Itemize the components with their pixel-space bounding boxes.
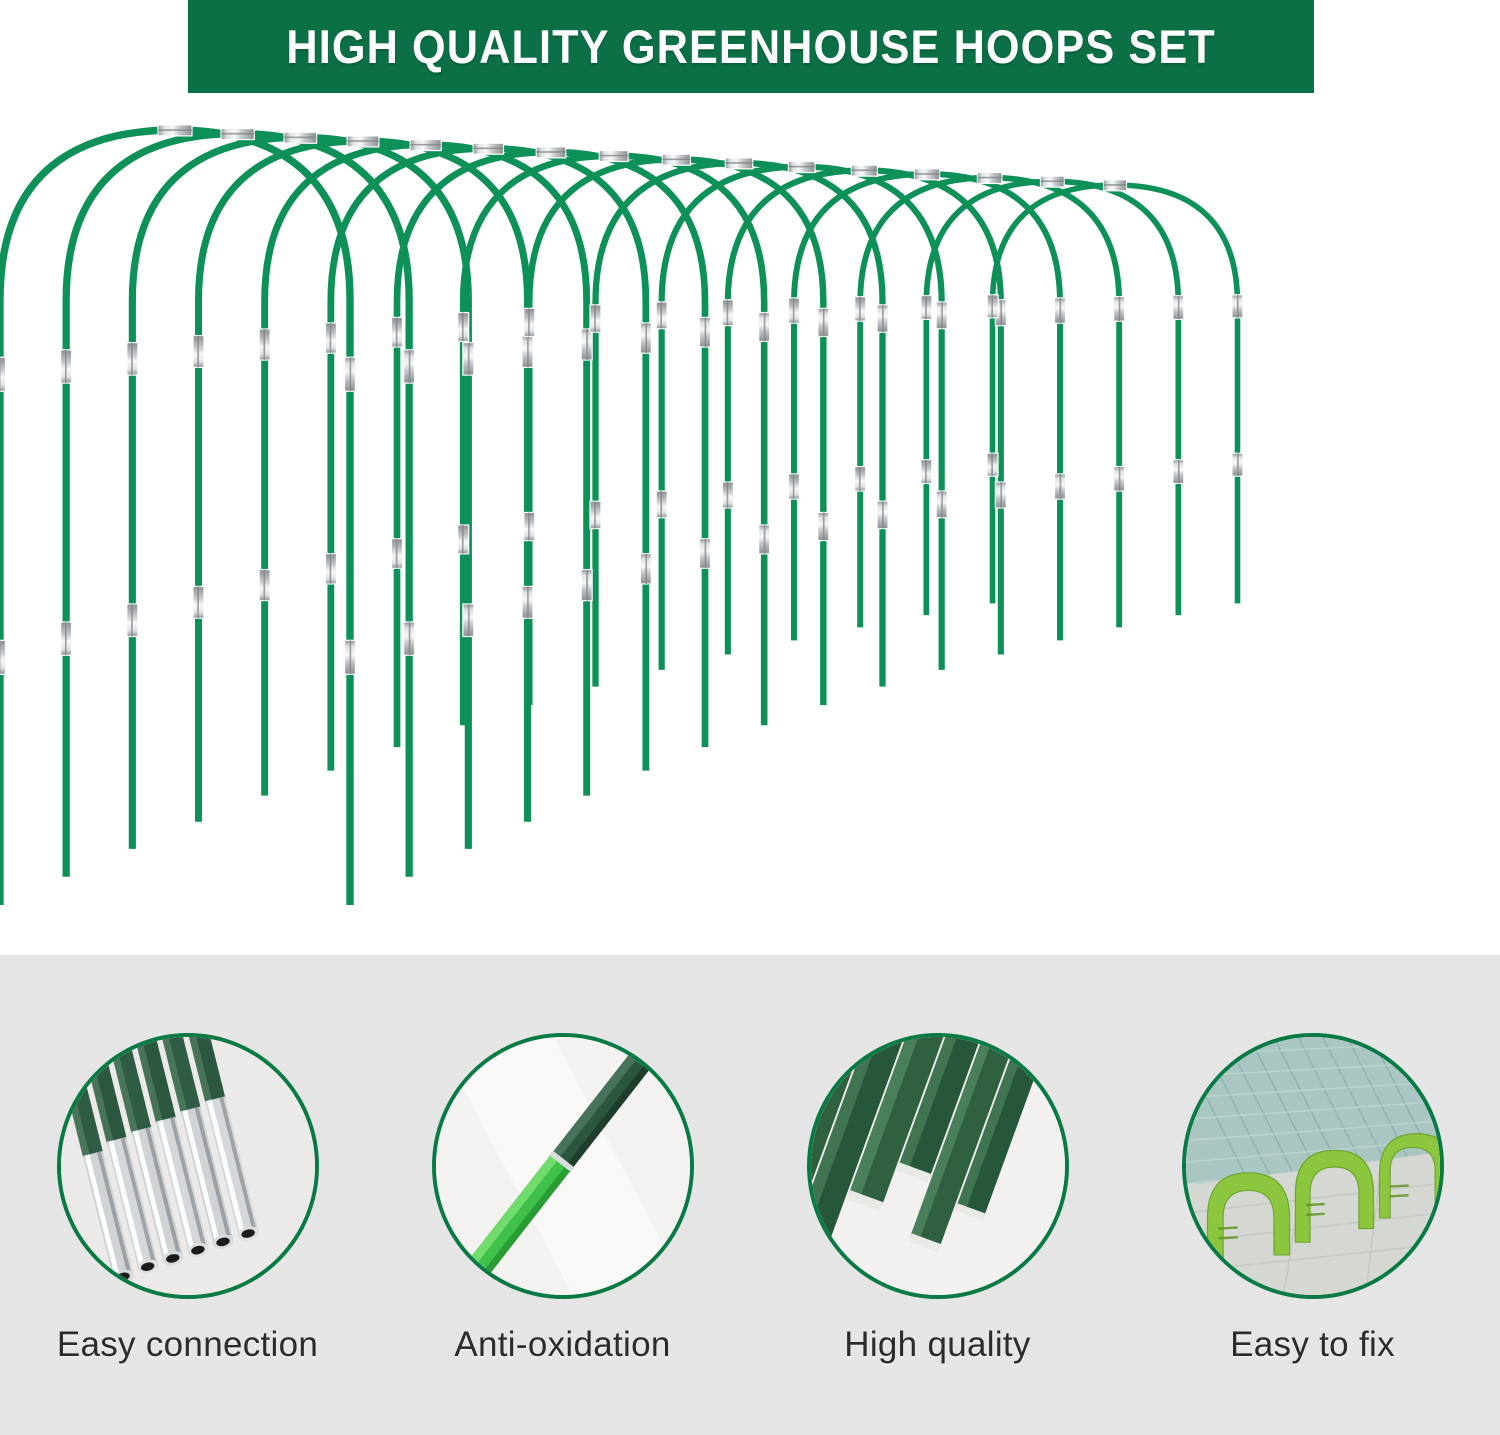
rod-connector (1114, 467, 1125, 491)
rod-connector (259, 329, 270, 360)
feature-label: Easy to fix (1230, 1325, 1395, 1365)
rod-connector (522, 586, 533, 618)
green-rods-bundle-photo (811, 1037, 1065, 1295)
silver-connector-tubes-photo (61, 1037, 315, 1295)
rod-connector (987, 295, 998, 318)
rod-connector (458, 313, 469, 342)
rod-connector (640, 323, 651, 353)
rod-connector (1232, 453, 1243, 476)
rod-connector (921, 460, 932, 484)
features-strip: Easy connection Anti-oxidation (0, 955, 1500, 1435)
rod-connector (524, 512, 535, 540)
rod-connector (463, 343, 474, 376)
rod-connector (347, 136, 379, 147)
rod-connector (936, 491, 947, 518)
rod-connector (995, 482, 1006, 508)
rod-connector (590, 305, 601, 332)
rod-connector (325, 554, 336, 584)
rod-connector (599, 151, 628, 162)
rod-connector (0, 640, 6, 674)
greenhouse-hoop (0, 130, 350, 905)
rod-connector (581, 570, 592, 601)
rod-connector (700, 539, 711, 569)
rod-connector (662, 154, 690, 165)
rod-connector (759, 313, 770, 342)
feature-anti-oxidation: Anti-oxidation (393, 1033, 733, 1365)
greenhouse-hoop-illustration (0, 0, 1500, 955)
rod-connector (0, 357, 6, 391)
rod-connector (458, 525, 469, 554)
feature-image-easy-connection (57, 1033, 319, 1299)
rod-connector (221, 129, 254, 140)
rod-connector (345, 640, 356, 674)
rod-connector (759, 525, 770, 554)
rod-connector (590, 501, 601, 528)
rod-connector (987, 453, 998, 476)
rod-connector (463, 604, 474, 637)
green-clips-on-netting-photo (1186, 1037, 1440, 1295)
rod-connector (1114, 297, 1125, 322)
rod-connector (722, 482, 733, 508)
rod-connector (855, 297, 866, 322)
feature-label: Anti-oxidation (454, 1325, 670, 1365)
greenhouse-hoop (132, 137, 468, 849)
rod-connector (936, 302, 947, 329)
rod-connector (473, 143, 503, 154)
rod-connector (818, 308, 829, 336)
rod-connector (522, 336, 533, 368)
rod-connector (61, 350, 72, 383)
rod-connector (345, 357, 356, 391)
rod-connector (1055, 474, 1066, 499)
rod-connector (1054, 298, 1065, 323)
rod-connector (877, 305, 888, 332)
greenhouse-hoop (199, 141, 528, 822)
rod-connector (1104, 180, 1127, 191)
rod-connector (789, 298, 800, 323)
rod-connector (877, 501, 888, 528)
hero-section: HIGH QUALITY GREENHOUSE HOOPS SET (0, 0, 1500, 955)
feature-easy-connection: Easy connection (18, 1033, 358, 1365)
rod-connector (404, 622, 415, 655)
rod-connector (259, 570, 270, 601)
rod-connector (656, 302, 667, 329)
rod-connector (855, 467, 866, 491)
rod-connector (193, 336, 204, 368)
rod-connector (818, 512, 829, 540)
feature-easy-to-fix: Easy to fix (1143, 1033, 1483, 1365)
rod-connector (284, 132, 317, 143)
feature-image-anti-oxidation (432, 1033, 694, 1299)
rod-connector (524, 308, 535, 336)
rod-connector (722, 300, 733, 326)
rod-connector (977, 172, 1001, 183)
rod-connector (1040, 176, 1064, 187)
rod-connector (404, 350, 415, 383)
rod-connector (581, 329, 592, 360)
rod-connector (700, 317, 711, 347)
greenhouse-hoop (529, 159, 823, 705)
rod-connector (1173, 296, 1184, 320)
rod-connector (127, 343, 138, 376)
rod-connector (158, 125, 192, 136)
rod-connector (391, 317, 402, 347)
coated-rod-closeup-photo (436, 1037, 690, 1295)
rod-connector (789, 474, 800, 499)
feature-label: Easy connection (57, 1325, 318, 1365)
rod-connector (921, 296, 932, 320)
rod-connector (851, 165, 877, 176)
rod-connector (392, 539, 403, 569)
rod-connector (725, 158, 752, 169)
feature-image-easy-to-fix (1182, 1033, 1444, 1299)
rod-connector (1173, 460, 1184, 484)
feature-image-high-quality (807, 1033, 1069, 1299)
rod-connector (1232, 295, 1243, 318)
greenhouse-hoop (728, 170, 1001, 654)
rod-connector (193, 586, 204, 618)
rod-connector (788, 162, 815, 173)
feature-label: High quality (844, 1325, 1030, 1365)
feature-high-quality: High quality (768, 1033, 1108, 1365)
rod-connector (914, 169, 939, 180)
greenhouse-hoop (66, 134, 409, 877)
greenhouse-hoop (463, 156, 764, 726)
rod-connector (61, 622, 72, 655)
rod-connector (127, 604, 138, 637)
rod-connector (656, 491, 667, 518)
rod-connector (536, 147, 566, 158)
rod-connector (325, 323, 336, 353)
rod-connector (640, 554, 651, 584)
greenhouse-hoop (993, 185, 1238, 603)
rod-connector (410, 140, 441, 151)
